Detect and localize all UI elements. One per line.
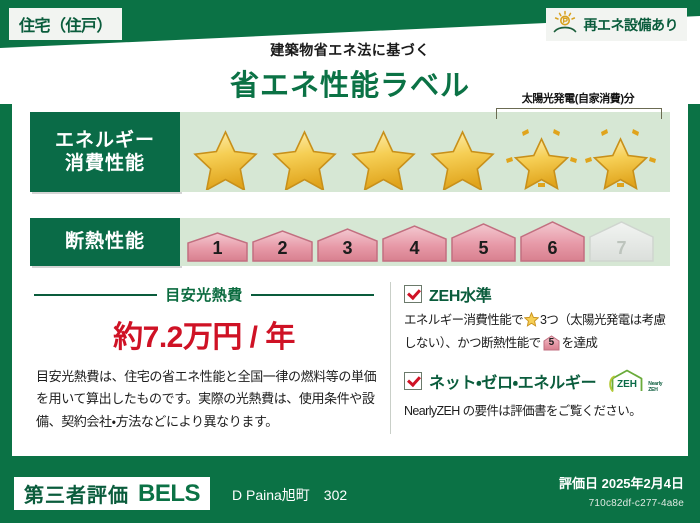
insulation-level-inline-number: 5 <box>543 335 560 351</box>
insulation-level-3-number: 3 <box>316 238 379 259</box>
star-3 <box>344 126 423 190</box>
zeh-sub-line2: ZEH <box>648 387 657 393</box>
insulation-performance-row: 断熱性能 <box>30 218 670 266</box>
utility-cost-value: 約7.2万円 / 年 <box>34 312 374 356</box>
insulation-level-1-number: 1 <box>186 238 249 259</box>
utility-cost-note: 目安光熱費は、住宅の省エネ性能と全国一律の燃料等の単価を用いて算出したものです。… <box>36 366 378 433</box>
insulation-level-3: 3 <box>316 227 379 263</box>
claim-body-part1: エネルギー消費性能で <box>404 313 523 327</box>
insulation-level-1: 1 <box>186 231 249 263</box>
zeh-logo-subtext: Nearly ZEH <box>648 382 662 393</box>
category-tag: 住宅（住戸） <box>9 8 122 40</box>
vertical-divider <box>390 282 391 434</box>
star-4 <box>423 126 502 190</box>
insulation-level-4-number: 4 <box>381 238 448 259</box>
star-inline-icon <box>524 312 539 333</box>
utility-cost-heading-label: 目安光熱費 <box>165 284 243 305</box>
claim-zeh-standard: ZEH水準 エネルギー消費性能で3つ（太陽光発電は考慮しない）、かつ断熱性能で5… <box>404 282 676 354</box>
label-footer: 第三者評価 BELS D Paina旭町 302 評価日 2025年2月4日 7… <box>0 459 700 523</box>
insulation-level-6-number: 6 <box>519 238 586 259</box>
insulation-level-7-number: 7 <box>588 238 655 259</box>
energy-performance-label: 住宅（住戸） 再エネ設備あり 建築物省エネ法に基づく 省エネ性能ラベル <box>0 0 700 523</box>
solar-sun-icon <box>552 10 578 39</box>
energy-star-rating <box>186 126 660 190</box>
insulation-performance-value: 1 2 3 <box>180 218 670 266</box>
claim-net-zero-energy-body: NearlyZEH の要件は評価書をご覧ください。 <box>404 401 676 421</box>
energy-performance-row: エネルギー 消費性能 太陽光発電(自家消費)分 <box>30 112 670 192</box>
insulation-level-2-number: 2 <box>251 238 314 259</box>
star-2 <box>265 126 344 190</box>
insulation-level-5-number: 5 <box>450 238 517 259</box>
claims-section: ZEH水準 エネルギー消費性能で3つ（太陽光発電は考慮しない）、かつ断熱性能で5… <box>404 282 676 429</box>
label-body-card: エネルギー 消費性能 太陽光発電(自家消費)分 <box>12 98 688 456</box>
claim-net-zero-energy-label: ネット・ゼロ・エネルギー <box>429 369 596 393</box>
claim-body-star-count: 3つ <box>540 313 558 327</box>
claim-net-zero-energy: ネット・ゼロ・エネルギー ZEH Nearly ZEH NearlyZEH <box>404 368 676 421</box>
checkbox-checked-icon <box>404 372 422 390</box>
insulation-level-7: 7 <box>588 220 655 263</box>
energy-key-line1: エネルギー <box>55 129 155 152</box>
header-titles: 建築物省エネ法に基づく 省エネ性能ラベル <box>0 40 700 104</box>
insulation-performance-key: 断熱性能 <box>30 218 180 266</box>
insulation-level-inline-icon: 5 <box>543 335 560 351</box>
heading-rule-left <box>34 294 157 296</box>
insulation-level-4: 4 <box>381 224 448 263</box>
bels-jp-label: 第三者評価 <box>24 479 129 508</box>
claim-zeh-standard-label: ZEH水準 <box>429 282 492 306</box>
claim-body-part3: を達成 <box>562 336 598 350</box>
claim-zeh-standard-title: ZEH水準 <box>404 282 676 306</box>
bels-certification-box: 第三者評価 BELS <box>14 477 210 510</box>
renewable-badge-label: 再エネ設備あり <box>584 15 679 35</box>
heading-rule-right <box>251 294 374 296</box>
page-title: 省エネ性能ラベル <box>0 62 700 104</box>
checkbox-checked-icon <box>404 285 422 303</box>
energy-performance-key: エネルギー 消費性能 <box>30 112 180 192</box>
solar-annotation-bracket <box>496 108 662 119</box>
renewable-equipment-badge: 再エネ設備あり <box>546 8 688 41</box>
evaluation-date: 評価日 2025年2月4日 <box>559 473 684 492</box>
building-name: D Paina旭町 302 <box>232 485 347 505</box>
insulation-level-2: 2 <box>251 229 314 263</box>
header-subtitle: 建築物省エネ法に基づく <box>0 40 700 60</box>
zeh-logo: ZEH Nearly ZEH <box>607 368 662 394</box>
evaluation-id: 710c82df-c277-4a8e <box>589 498 684 509</box>
claim-net-zero-energy-title: ネット・ゼロ・エネルギー ZEH Nearly ZEH <box>404 368 676 394</box>
claim-zeh-standard-body: エネルギー消費性能で3つ（太陽光発電は考慮しない）、かつ断熱性能で5を達成 <box>404 310 676 354</box>
energy-key-line2: 消費性能 <box>65 152 145 175</box>
star-5-solar <box>502 126 581 190</box>
svg-text:ZEH: ZEH <box>617 379 637 390</box>
utility-cost-heading: 目安光熱費 <box>34 284 374 305</box>
star-1 <box>186 126 265 190</box>
bels-en-label: BELS <box>138 480 200 508</box>
utility-cost-block: 目安光熱費 約7.2万円 / 年 <box>34 284 374 356</box>
insulation-level-scale: 1 2 3 <box>180 220 657 266</box>
insulation-level-6: 6 <box>519 220 586 263</box>
star-6-solar <box>581 126 660 190</box>
insulation-level-5: 5 <box>450 222 517 263</box>
energy-performance-value: 太陽光発電(自家消費)分 <box>180 112 670 192</box>
